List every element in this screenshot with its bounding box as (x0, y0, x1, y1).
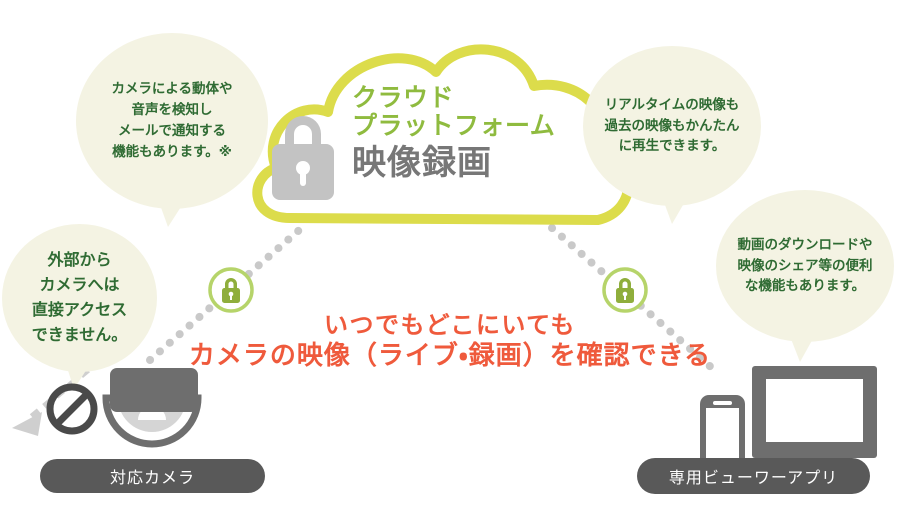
callout-line: な機能もあります。 (738, 276, 873, 297)
cloud-title-line3: 映像録画 (352, 144, 582, 183)
dome-camera-icon (106, 368, 198, 444)
callout-no-external-access: 外部から カメラへは 直接アクセス できません。 (2, 224, 157, 372)
callout-share-download: 動画のダウンロードや 映像のシェア等の便利 な機能もあります。 (716, 190, 894, 342)
callout-line: 過去の映像もかんたん (605, 116, 740, 137)
cloud-title-line1: クラウド (352, 84, 582, 112)
callout-line: 映像のシェア等の便利 (738, 256, 873, 277)
callout-motion-detection-text: カメラによる動体や 音声を検知し メールで通知する 機能もあります。※ (105, 79, 238, 163)
callout-line: メールで通知する (111, 121, 232, 142)
label-viewer-app: 専用ビューワーアプリ (637, 458, 870, 494)
lock-icon (206, 265, 256, 315)
callout-line: カメラによる動体や (111, 79, 232, 100)
callout-playback: リアルタイムの映像も 過去の映像もかんたん に再生できます。 (583, 46, 761, 206)
monitor-icon (752, 366, 877, 473)
cloud-padlock-icon (272, 116, 334, 200)
callout-line: 動画のダウンロードや (738, 235, 873, 256)
callout-line: 機能もあります。※ (111, 142, 232, 163)
callout-line: リアルタイムの映像も (605, 95, 740, 116)
secure-link-badge-left (206, 265, 256, 315)
secure-link-badge-right (600, 265, 650, 315)
callout-line: できません。 (32, 323, 128, 348)
no-entry-icon (44, 381, 100, 437)
cloud-title-group: クラウド プラットフォーム 映像録画 (352, 84, 582, 183)
callout-no-external-access-text: 外部から カメラへは 直接アクセス できません。 (26, 248, 134, 347)
label-supported-camera: 対応カメラ (40, 459, 265, 493)
callout-line: 外部から (32, 248, 128, 273)
callout-line: 直接アクセス (32, 298, 128, 323)
callout-playback-text: リアルタイムの映像も 過去の映像もかんたん に再生できます。 (599, 95, 746, 158)
cloud-title-line2: プラットフォーム (352, 112, 582, 140)
callout-line: 音声を検知し (111, 100, 232, 121)
label-viewer-app-text: 専用ビューワーアプリ (669, 464, 838, 488)
diagram-canvas: クラウド プラットフォーム 映像録画 カメラによる動体や 音声を検知し メールで… (0, 0, 900, 514)
callout-line: カメラへは (32, 273, 128, 298)
callout-share-download-text: 動画のダウンロードや 映像のシェア等の便利 な機能もあります。 (732, 235, 879, 298)
callout-line: に再生できます。 (605, 136, 740, 157)
callout-motion-detection: カメラによる動体や 音声を検知し メールで通知する 機能もあります。※ (76, 33, 268, 209)
lock-icon (600, 265, 650, 315)
label-supported-camera-text: 対応カメラ (110, 464, 195, 488)
